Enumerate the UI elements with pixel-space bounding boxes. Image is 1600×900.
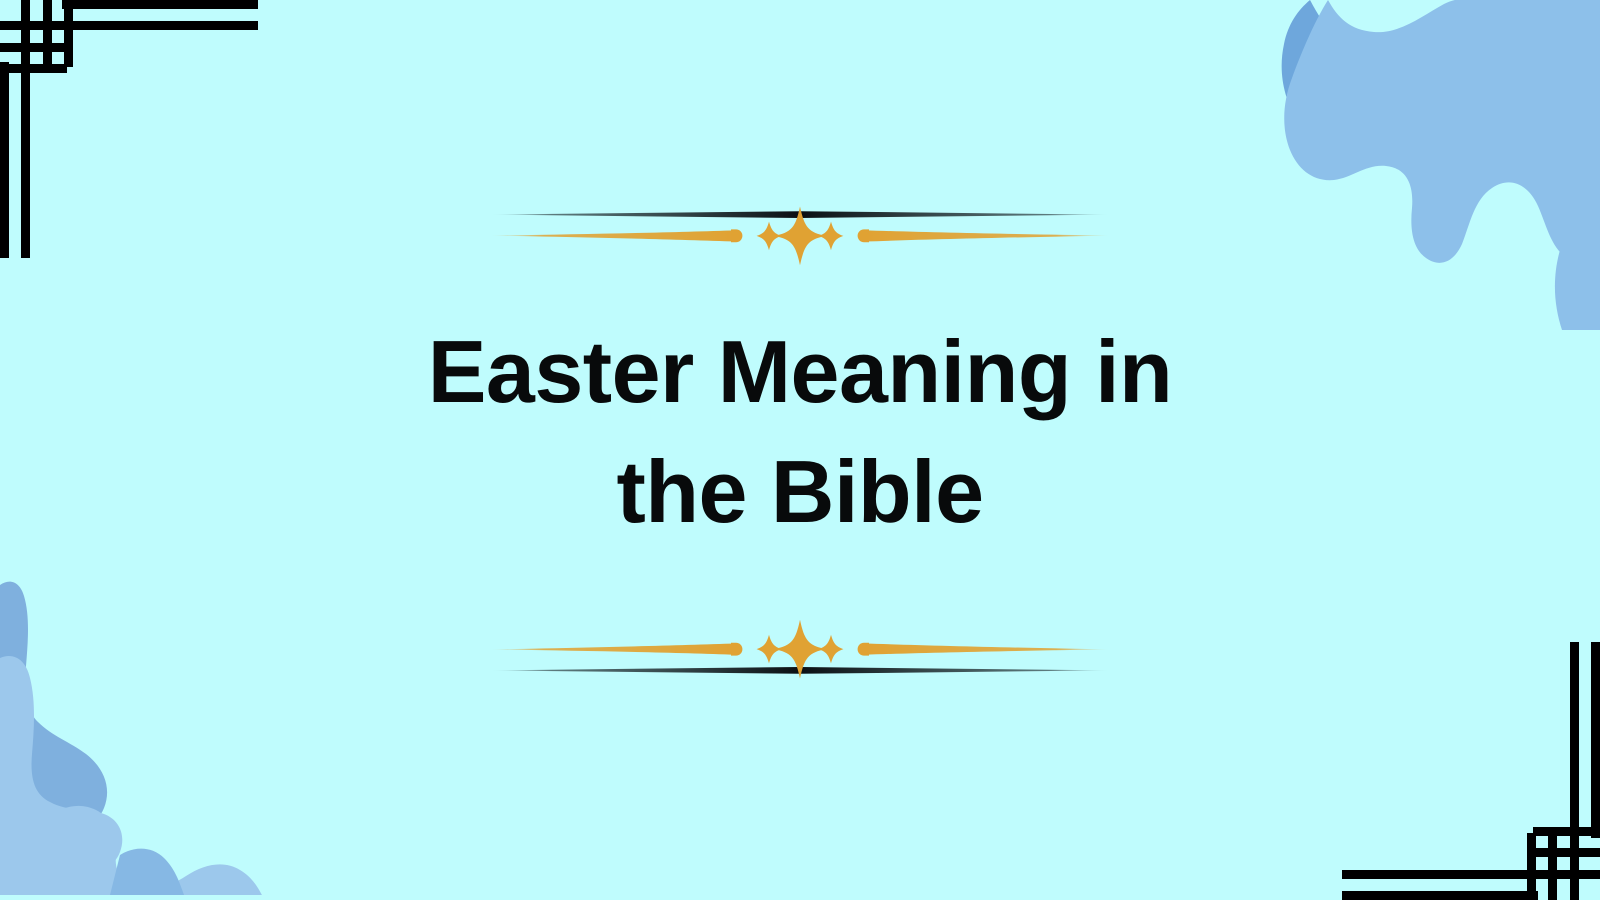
blob-bottom-left-lobe2-shape xyxy=(110,849,184,895)
corner-bar-v3 xyxy=(1548,833,1557,900)
divider-gold-right xyxy=(864,230,1110,241)
divider-gold-right-cap xyxy=(858,643,869,656)
divider-gold-left xyxy=(490,643,736,654)
corner-bar-h3 xyxy=(0,43,67,52)
blob-bottom-left-back-shape xyxy=(0,582,107,895)
blob-bottom-left-front-shape xyxy=(0,656,122,895)
corner-bar-h2 xyxy=(0,21,258,30)
page-title-line-2: the Bible xyxy=(180,432,1420,552)
corner-bar-v3 xyxy=(43,0,52,67)
corner-bar-h4 xyxy=(1533,827,1600,836)
page-title: Easter Meaning in the Bible xyxy=(0,312,1600,552)
divider-star-small-right xyxy=(819,635,844,664)
corner-bar-h1 xyxy=(1342,891,1538,900)
corner-bar-h2 xyxy=(1342,870,1600,879)
blob-top-right-tail-shape xyxy=(1555,190,1600,330)
divider-star-small-right xyxy=(819,222,844,251)
divider-top xyxy=(490,203,1110,273)
blob-bottom-left xyxy=(0,550,350,900)
divider-gold-right xyxy=(864,643,1110,654)
divider-bottom xyxy=(490,612,1110,682)
corner-bar-h4 xyxy=(0,64,67,73)
divider-gold-left-cap xyxy=(731,643,742,656)
corner-bar-v1 xyxy=(1591,642,1600,838)
divider-gold-right-cap xyxy=(858,229,869,242)
corner-bar-h3 xyxy=(1533,848,1600,857)
divider-gold-left-cap xyxy=(731,229,742,242)
corner-bar-v4 xyxy=(1527,833,1536,900)
page-title-line-1: Easter Meaning in xyxy=(180,312,1420,432)
slide-canvas: Easter Meaning in the Bible xyxy=(0,0,1600,900)
corner-frame-top-left xyxy=(0,0,258,263)
blob-top-right-back-shape xyxy=(1282,0,1600,214)
corner-bar-v1 xyxy=(0,62,9,258)
divider-gold-left xyxy=(490,230,736,241)
corner-bar-v4 xyxy=(64,0,73,67)
blob-top-right xyxy=(1270,0,1600,350)
corner-frame-bottom-right xyxy=(1342,637,1600,900)
corner-bar-v2 xyxy=(1570,642,1579,900)
blob-bottom-left-lobe-shape xyxy=(48,806,262,895)
blob-top-right-front-shape xyxy=(1284,0,1600,263)
corner-bar-h1 xyxy=(62,0,258,9)
corner-bar-v2 xyxy=(21,0,30,258)
